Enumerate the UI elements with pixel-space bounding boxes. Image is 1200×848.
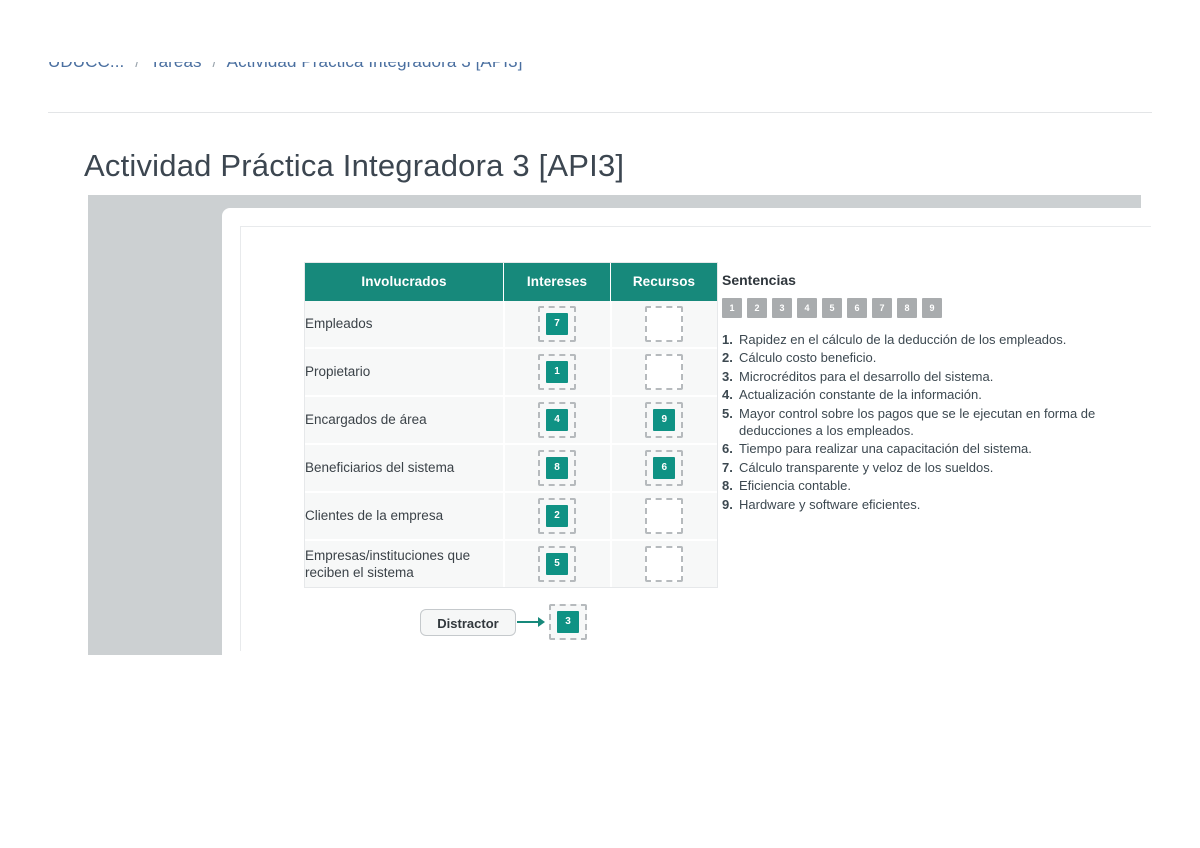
involucrados-table: Involucrados Intereses Recursos Empleado…	[305, 263, 717, 587]
sentence-number: 8.	[722, 477, 739, 494]
distractor-row: Distractor 3	[420, 604, 587, 640]
dropzone-cell-recursos[interactable]: 6	[611, 444, 718, 492]
sentencia-chip-6[interactable]: 6	[847, 298, 867, 318]
dropzone-cell-intereses[interactable]: 5	[504, 540, 611, 587]
sentencia-chip-8[interactable]: 8	[897, 298, 917, 318]
row-label-encargados: Encargados de área	[305, 396, 504, 444]
row-label-beneficiarios: Beneficiarios del sistema	[305, 444, 504, 492]
row-label-empleados: Empleados	[305, 301, 504, 348]
chip-intereses[interactable]: 4	[546, 409, 568, 431]
dropzone-recursos[interactable]: 9	[645, 402, 683, 438]
sentencias-list: 1. Rapidez en el cálculo de la deducción…	[722, 331, 1122, 513]
dropzone-cell-recursos[interactable]: 9	[611, 396, 718, 444]
distractor-button[interactable]: Distractor	[420, 609, 516, 636]
sentence-number: 9.	[722, 496, 739, 513]
chip-distractor[interactable]: 3	[557, 611, 579, 633]
breadcrumb: UDUCC... / Tareas / Actividad Práctica I…	[48, 62, 523, 72]
table-header-recursos: Recursos	[611, 263, 718, 301]
table-row: Beneficiarios del sistema 8 6	[305, 444, 717, 492]
sentencia-chip-7[interactable]: 7	[872, 298, 892, 318]
dropzone-recursos[interactable]: 6	[645, 450, 683, 486]
breadcrumb-item-course[interactable]: UDUCC...	[48, 62, 124, 71]
header-divider	[48, 112, 1152, 113]
sentencias-panel: Sentencias 1 2 3 4 5 6 7 8 9 1. Rapidez …	[722, 272, 1122, 514]
chip-intereses[interactable]: 5	[546, 553, 568, 575]
sentence-number: 4.	[722, 386, 739, 403]
sentencia-chip-5[interactable]: 5	[822, 298, 842, 318]
sentence-number: 2.	[722, 349, 739, 366]
row-label-propietario: Propietario	[305, 348, 504, 396]
breadcrumb-separator: /	[212, 62, 216, 71]
chip-intereses[interactable]: 1	[546, 361, 568, 383]
list-item: 4. Actualización constante de la informa…	[722, 386, 1122, 403]
sentence-number: 5.	[722, 405, 739, 422]
sentence-text: Rapidez en el cálculo de la deducción de…	[739, 331, 1122, 348]
chip-intereses[interactable]: 7	[546, 313, 568, 335]
list-item: 2. Cálculo costo beneficio.	[722, 349, 1122, 366]
dropzone-cell-recursos[interactable]	[611, 540, 718, 587]
breadcrumb-container: UDUCC... / Tareas / Actividad Práctica I…	[0, 62, 1200, 96]
table-header-involucrados: Involucrados	[305, 263, 504, 301]
page-title: Actividad Práctica Integradora 3 [API3]	[84, 148, 624, 184]
list-item: 9. Hardware y software eficientes.	[722, 496, 1122, 513]
sentence-text: Hardware y software eficientes.	[739, 496, 1122, 513]
sentence-text: Tiempo para realizar una capacitación de…	[739, 440, 1122, 457]
dropzone-cell-intereses[interactable]: 2	[504, 492, 611, 540]
list-item: 3. Microcréditos para el desarrollo del …	[722, 368, 1122, 385]
sentence-text: Cálculo costo beneficio.	[739, 349, 1122, 366]
sentence-text: Microcréditos para el desarrollo del sis…	[739, 368, 1122, 385]
breadcrumb-separator: /	[135, 62, 139, 71]
dropzone-cell-intereses[interactable]: 7	[504, 301, 611, 348]
sentence-number: 3.	[722, 368, 739, 385]
chip-recursos[interactable]: 9	[653, 409, 675, 431]
dropzone-cell-recursos[interactable]	[611, 492, 718, 540]
list-item: 1. Rapidez en el cálculo de la deducción…	[722, 331, 1122, 348]
sentence-text: Actualización constante de la informació…	[739, 386, 1122, 403]
sentence-number: 6.	[722, 440, 739, 457]
sentencia-chip-9[interactable]: 9	[922, 298, 942, 318]
dropzone-intereses[interactable]: 2	[538, 498, 576, 534]
table-header-intereses: Intereses	[504, 263, 611, 301]
dropzone-recursos[interactable]	[645, 354, 683, 390]
dropzone-cell-intereses[interactable]: 8	[504, 444, 611, 492]
table-row: Clientes de la empresa 2	[305, 492, 717, 540]
list-item: 7. Cálculo transparente y veloz de los s…	[722, 459, 1122, 476]
list-item: 5. Mayor control sobre los pagos que se …	[722, 405, 1122, 440]
dropzone-cell-recursos[interactable]	[611, 301, 718, 348]
dropzone-intereses[interactable]: 4	[538, 402, 576, 438]
chip-intereses[interactable]: 8	[546, 457, 568, 479]
sentencia-chip-1[interactable]: 1	[722, 298, 742, 318]
dropzone-intereses[interactable]: 7	[538, 306, 576, 342]
dropzone-cell-intereses[interactable]: 1	[504, 348, 611, 396]
list-item: 8. Eficiencia contable.	[722, 477, 1122, 494]
table-row: Empleados 7	[305, 301, 717, 348]
table-row: Empresas/instituciones que reciben el si…	[305, 540, 717, 587]
arrow-head	[538, 617, 545, 627]
sentencias-title: Sentencias	[722, 272, 1122, 288]
row-label-clientes: Clientes de la empresa	[305, 492, 504, 540]
dropzone-intereses[interactable]: 1	[538, 354, 576, 390]
arrow-shaft	[517, 621, 539, 623]
row-label-empresas: Empresas/instituciones que reciben el si…	[305, 540, 504, 587]
table-header-row: Involucrados Intereses Recursos	[305, 263, 717, 301]
sentencia-chip-3[interactable]: 3	[772, 298, 792, 318]
breadcrumb-item-tareas[interactable]: Tareas	[150, 62, 202, 71]
dropzone-distractor[interactable]: 3	[549, 604, 587, 640]
chip-intereses[interactable]: 2	[546, 505, 568, 527]
table-body: Empleados 7 Propietario 1 Encargados d	[305, 301, 717, 587]
sentence-text: Eficiencia contable.	[739, 477, 1122, 494]
table-row: Encargados de área 4 9	[305, 396, 717, 444]
dropzone-recursos[interactable]	[645, 546, 683, 582]
table-row: Propietario 1	[305, 348, 717, 396]
dropzone-intereses[interactable]: 5	[538, 546, 576, 582]
sentence-number: 1.	[722, 331, 739, 348]
dropzone-recursos[interactable]	[645, 498, 683, 534]
sentence-number: 7.	[722, 459, 739, 476]
dropzone-cell-intereses[interactable]: 4	[504, 396, 611, 444]
sentence-text: Mayor control sobre los pagos que se le …	[739, 405, 1122, 440]
arrow-right-icon	[517, 616, 547, 628]
list-item: 6. Tiempo para realizar una capacitación…	[722, 440, 1122, 457]
dropzone-cell-recursos[interactable]	[611, 348, 718, 396]
sentencia-chip-2[interactable]: 2	[747, 298, 767, 318]
dropzone-recursos[interactable]	[645, 306, 683, 342]
sentence-text: Cálculo transparente y veloz de los suel…	[739, 459, 1122, 476]
chip-recursos[interactable]: 6	[653, 457, 675, 479]
sentencias-chip-row: 1 2 3 4 5 6 7 8 9	[722, 298, 1122, 318]
sentencia-chip-4[interactable]: 4	[797, 298, 817, 318]
dropzone-intereses[interactable]: 8	[538, 450, 576, 486]
breadcrumb-item-current: Actividad Práctica Integradora 3 [API3]	[227, 62, 523, 71]
